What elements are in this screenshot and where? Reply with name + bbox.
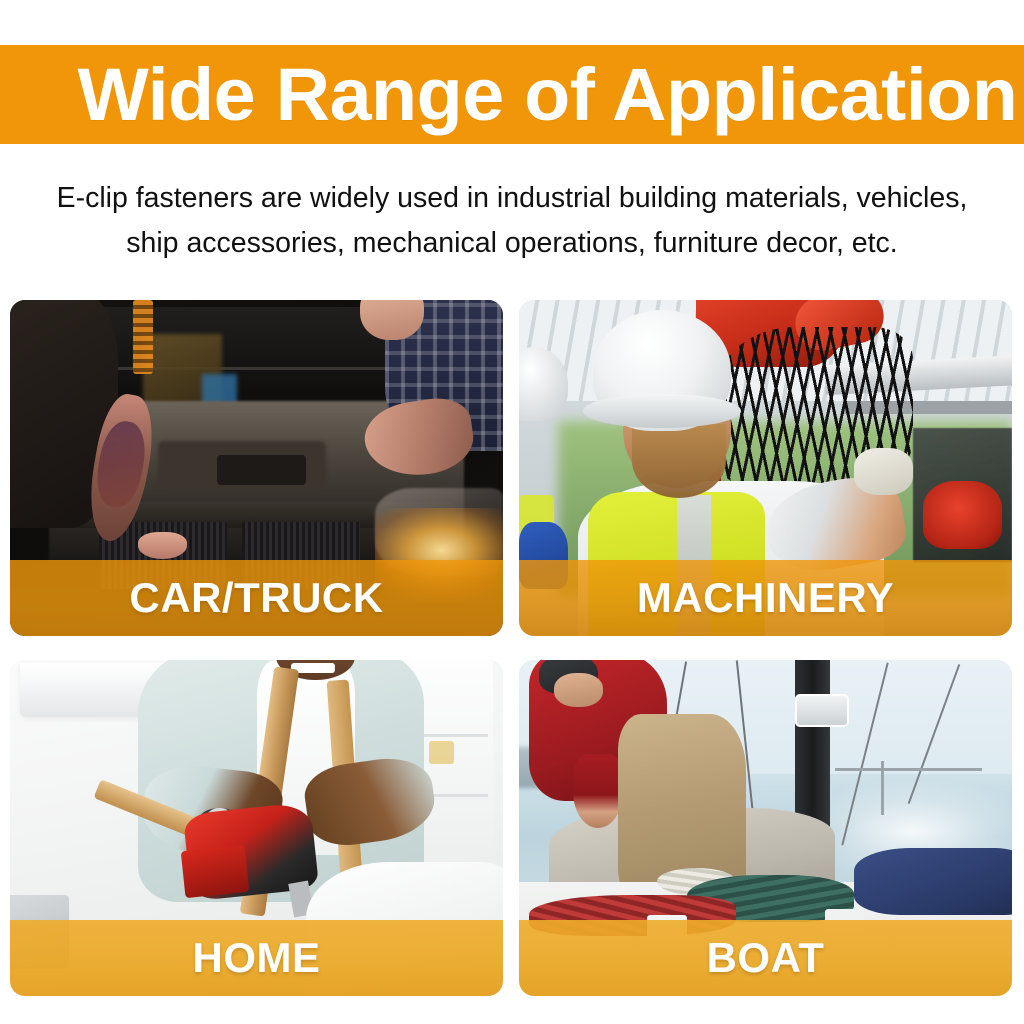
card-label-boat: BOAT — [519, 920, 1012, 996]
application-card-grid: CAR/TRUCK MACHINERY — [10, 300, 1012, 996]
application-card-machinery[interactable]: MACHINERY — [519, 300, 1012, 636]
header-banner: Wide Range of Application — [0, 45, 1024, 144]
card-label-text: CAR/TRUCK — [129, 577, 383, 619]
card-label-car-truck: CAR/TRUCK — [10, 560, 503, 636]
card-label-machinery: MACHINERY — [519, 560, 1012, 636]
intro-paragraph: E-clip fasteners are widely used in indu… — [0, 176, 1024, 266]
page-title: Wide Range of Application — [0, 58, 1017, 132]
application-card-car-truck[interactable]: CAR/TRUCK — [10, 300, 503, 636]
intro-line-2: ship accessories, mechanical operations,… — [0, 221, 1024, 266]
card-label-text: MACHINERY — [637, 577, 894, 619]
application-card-home[interactable]: HOME — [10, 660, 503, 996]
application-card-boat[interactable]: BOAT — [519, 660, 1012, 996]
card-label-text: BOAT — [707, 937, 825, 979]
intro-line-1: E-clip fasteners are widely used in indu… — [0, 176, 1024, 221]
card-label-home: HOME — [10, 920, 503, 996]
card-label-text: HOME — [193, 937, 321, 979]
